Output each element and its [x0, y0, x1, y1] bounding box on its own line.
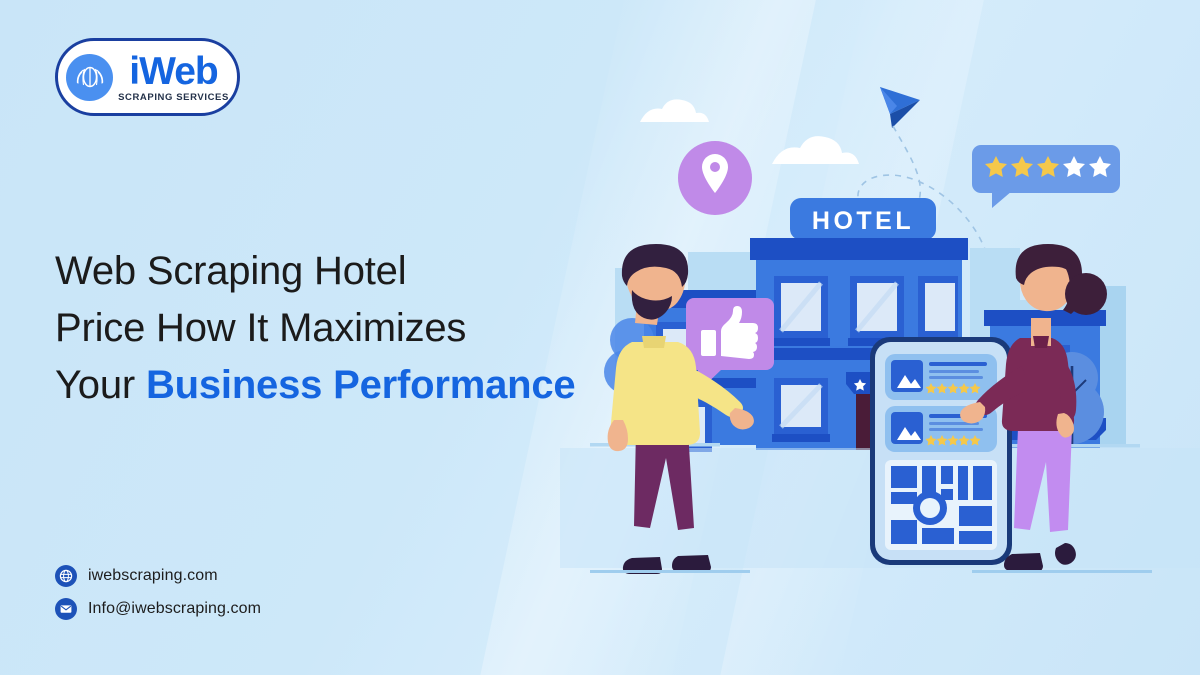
- phone-mockup: [870, 337, 1012, 565]
- contact-email[interactable]: Info@iwebscraping.com: [55, 598, 261, 620]
- star-rating-badge: [972, 145, 1120, 208]
- headline-line-2: Price How It Maximizes: [55, 306, 466, 350]
- banner: iWeb SCRAPING SERVICES Web Scraping Hote…: [0, 0, 1200, 675]
- hero-illustration: HOTEL: [560, 0, 1200, 675]
- ground-line-foreground-left: [590, 570, 750, 573]
- contact-list: iwebscraping.com Info@iwebscraping.com: [55, 565, 261, 631]
- logo-wordmark: iWeb: [129, 53, 217, 90]
- headline-accent: Business Performance: [146, 363, 576, 407]
- website-text: iwebscraping.com: [88, 567, 218, 585]
- logo-tagline: SCRAPING SERVICES: [118, 92, 229, 103]
- globe-icon: [55, 565, 77, 587]
- hair-bun: [1065, 273, 1107, 315]
- headline-line-1: Web Scraping Hotel: [55, 249, 406, 293]
- spider-web-icon: [66, 54, 113, 101]
- headline-line-3-prefix: Your: [55, 363, 146, 407]
- map-grid-icon: [885, 460, 997, 550]
- logo[interactable]: iWeb SCRAPING SERVICES: [55, 38, 240, 116]
- page-title: Web Scraping Hotel Price How It Maximize…: [55, 243, 615, 413]
- email-text: Info@iwebscraping.com: [88, 600, 261, 618]
- contact-website[interactable]: iwebscraping.com: [55, 565, 261, 587]
- review-card-1: [885, 354, 997, 400]
- cloud-right: [772, 136, 859, 164]
- map-pin-icon: [678, 141, 752, 215]
- envelope-icon: [55, 598, 77, 620]
- cloud-left: [640, 99, 709, 122]
- paper-plane-icon: [880, 87, 920, 128]
- ground-line-foreground: [972, 570, 1152, 573]
- hotel-sign-text: HOTEL: [812, 207, 914, 235]
